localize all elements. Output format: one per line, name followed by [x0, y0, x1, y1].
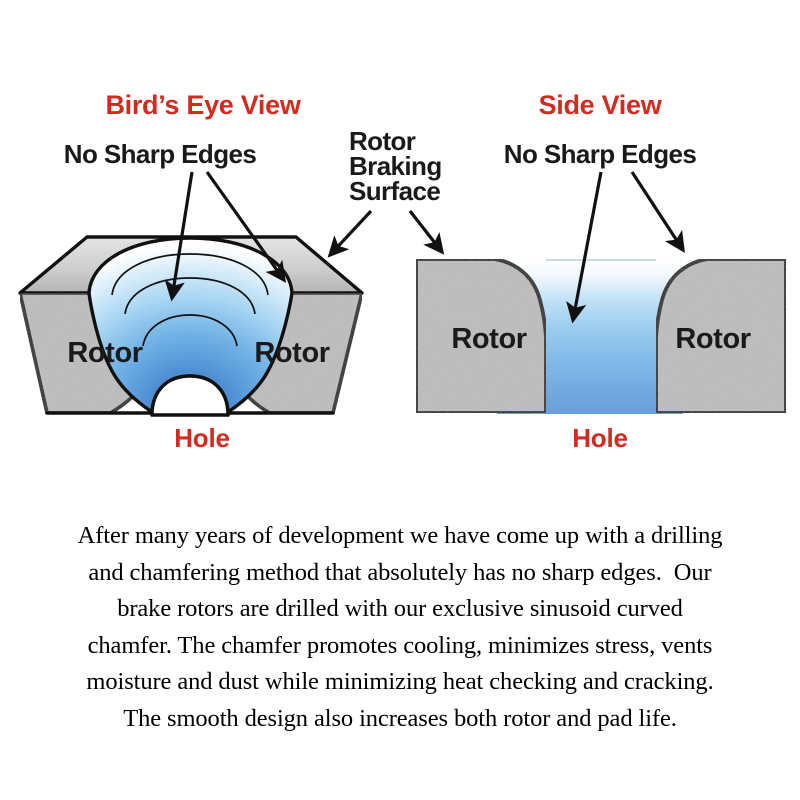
side-view-no-sharp-edges-arrow-right: [632, 172, 683, 250]
diagram-page: Bird’s Eye View No Sharp Edges Rotor Rot…: [0, 0, 800, 800]
side-view-title: Side View: [539, 90, 663, 120]
side-view-rotor-label-right: Rotor: [675, 323, 750, 355]
caption-line: moisture and dust while minimizing heat …: [0, 664, 800, 701]
side-view-hole-label: Hole: [572, 423, 628, 453]
rotor-chamfer-diagram: Bird’s Eye View No Sharp Edges Rotor Rot…: [0, 0, 800, 500]
braking-surface-arrow-right: [410, 211, 442, 252]
braking-surface-line-3: Surface: [349, 176, 440, 206]
side-view-group: Side View No Sharp Edges Rotor Rotor Hol…: [416, 90, 786, 453]
birds-eye-view-group: Bird’s Eye View No Sharp Edges Rotor Rot…: [20, 90, 362, 453]
birds-eye-title: Bird’s Eye View: [105, 90, 301, 120]
birds-eye-hole-label: Hole: [174, 423, 230, 453]
caption-paragraph: After many years of development we have …: [0, 518, 800, 737]
caption-line: brake rotors are drilled with our exclus…: [0, 591, 800, 628]
side-view-no-sharp-edges-label: No Sharp Edges: [504, 139, 697, 169]
caption-line: After many years of development we have …: [0, 518, 800, 555]
caption-line: chamfer. The chamfer promotes cooling, m…: [0, 628, 800, 665]
birds-eye-no-sharp-edges-label: No Sharp Edges: [64, 139, 257, 169]
caption-line: and chamfering method that absolutely ha…: [0, 555, 800, 592]
birds-eye-rotor-label-right: Rotor: [254, 337, 329, 369]
rotor-braking-surface-callout: Rotor Braking Surface: [330, 126, 442, 255]
braking-surface-arrow-left: [330, 211, 371, 255]
caption-line: The smooth design also increases both ro…: [0, 701, 800, 738]
birds-eye-rotor-label-left: Rotor: [67, 337, 142, 369]
side-view-rotor-label-left: Rotor: [451, 323, 526, 355]
